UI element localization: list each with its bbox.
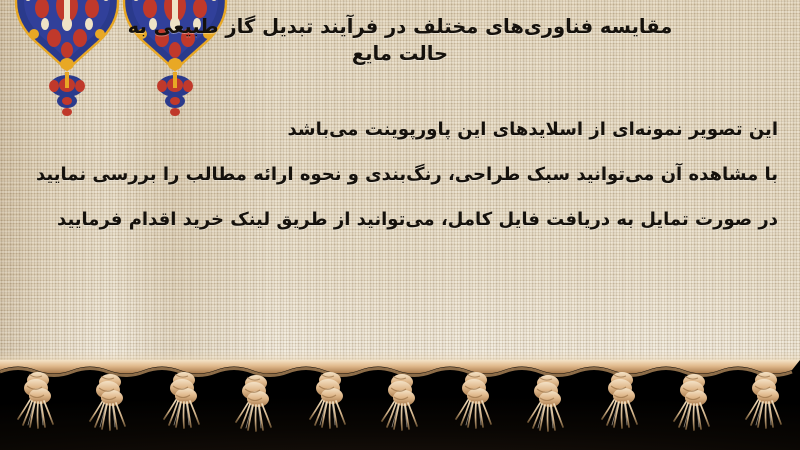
title-line-2: حالت مایع (352, 42, 448, 65)
slide-body-text: این تصویر نمونه‌ای از اسلایدهای این پاور… (18, 107, 778, 242)
body-line: با مشاهده آن می‌توانید سبک طراحی، رنگ‌بن… (18, 152, 778, 197)
carpet-fringe-band (0, 360, 800, 450)
slide-text-layer: مقایسه فناوری‌های مختلف در فرآیند تبدیل … (0, 0, 800, 378)
page-title: مقایسه فناوری‌های مختلف در فرآیند تبدیل … (0, 13, 800, 67)
slide-canvas: مقایسه فناوری‌های مختلف در فرآیند تبدیل … (0, 0, 800, 450)
fringe-tassel-row (18, 372, 781, 431)
body-line: این تصویر نمونه‌ای از اسلایدهای این پاور… (18, 107, 778, 152)
title-line-1: مقایسه فناوری‌های مختلف در فرآیند تبدیل … (128, 15, 673, 38)
carpet-knotted-fringe (0, 360, 800, 450)
body-line: در صورت تمایل به دریافت فایل کامل، می‌تو… (18, 197, 778, 242)
